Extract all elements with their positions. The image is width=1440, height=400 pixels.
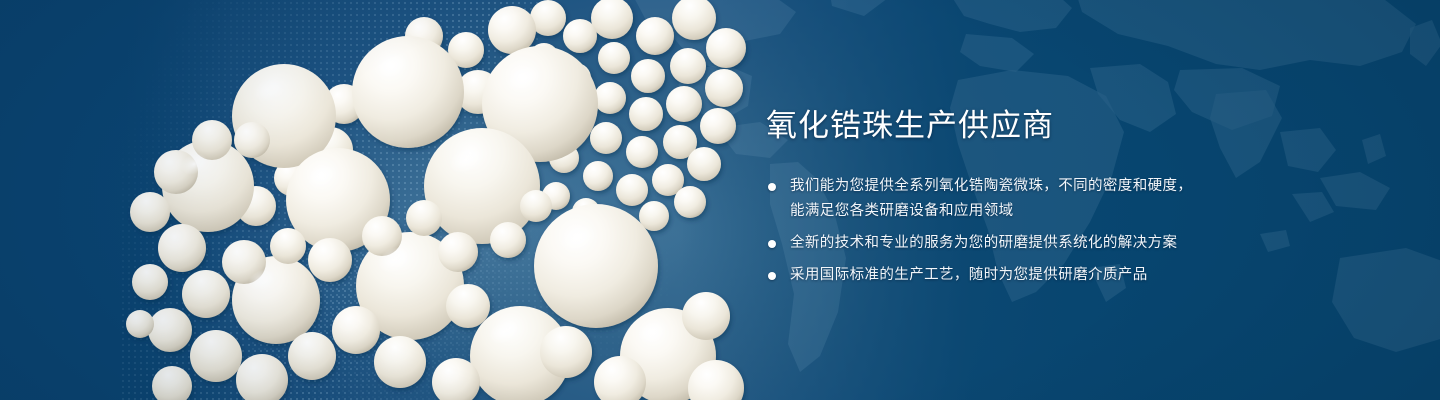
bullet-text-line-1: 采用国际标准的生产工艺，随时为您提供研磨介质产品 [790, 267, 1148, 283]
banner-copy: 氧化锆珠生产供应商 我们能为您提供全系列氧化锆陶瓷微珠，不同的密度和硬度， 能满… [766, 106, 1386, 288]
list-item: 我们能为您提供全系列氧化锆陶瓷微珠，不同的密度和硬度， 能满足您各类研磨设备和应… [766, 174, 1386, 224]
bullet-text-line-1: 我们能为您提供全系列氧化锆陶瓷微珠，不同的密度和硬度， [790, 178, 1192, 194]
list-item: 全新的技术和专业的服务为您的研磨提供系统化的解决方案 [766, 231, 1386, 256]
feature-bullet-list: 我们能为您提供全系列氧化锆陶瓷微珠，不同的密度和硬度， 能满足您各类研磨设备和应… [766, 174, 1386, 288]
bullet-text-line-1: 全新的技术和专业的服务为您的研磨提供系统化的解决方案 [790, 235, 1177, 251]
bullet-dot-icon [768, 240, 776, 248]
bullet-text-line-2: 能满足您各类研磨设备和应用领域 [790, 199, 1386, 224]
bullet-dot-icon [768, 272, 776, 280]
list-item: 采用国际标准的生产工艺，随时为您提供研磨介质产品 [766, 263, 1386, 288]
hero-banner: 氧化锆珠生产供应商 我们能为您提供全系列氧化锆陶瓷微珠，不同的密度和硬度， 能满… [0, 0, 1440, 400]
bullet-dot-icon [768, 183, 776, 191]
page-title: 氧化锆珠生产供应商 [766, 106, 1386, 146]
